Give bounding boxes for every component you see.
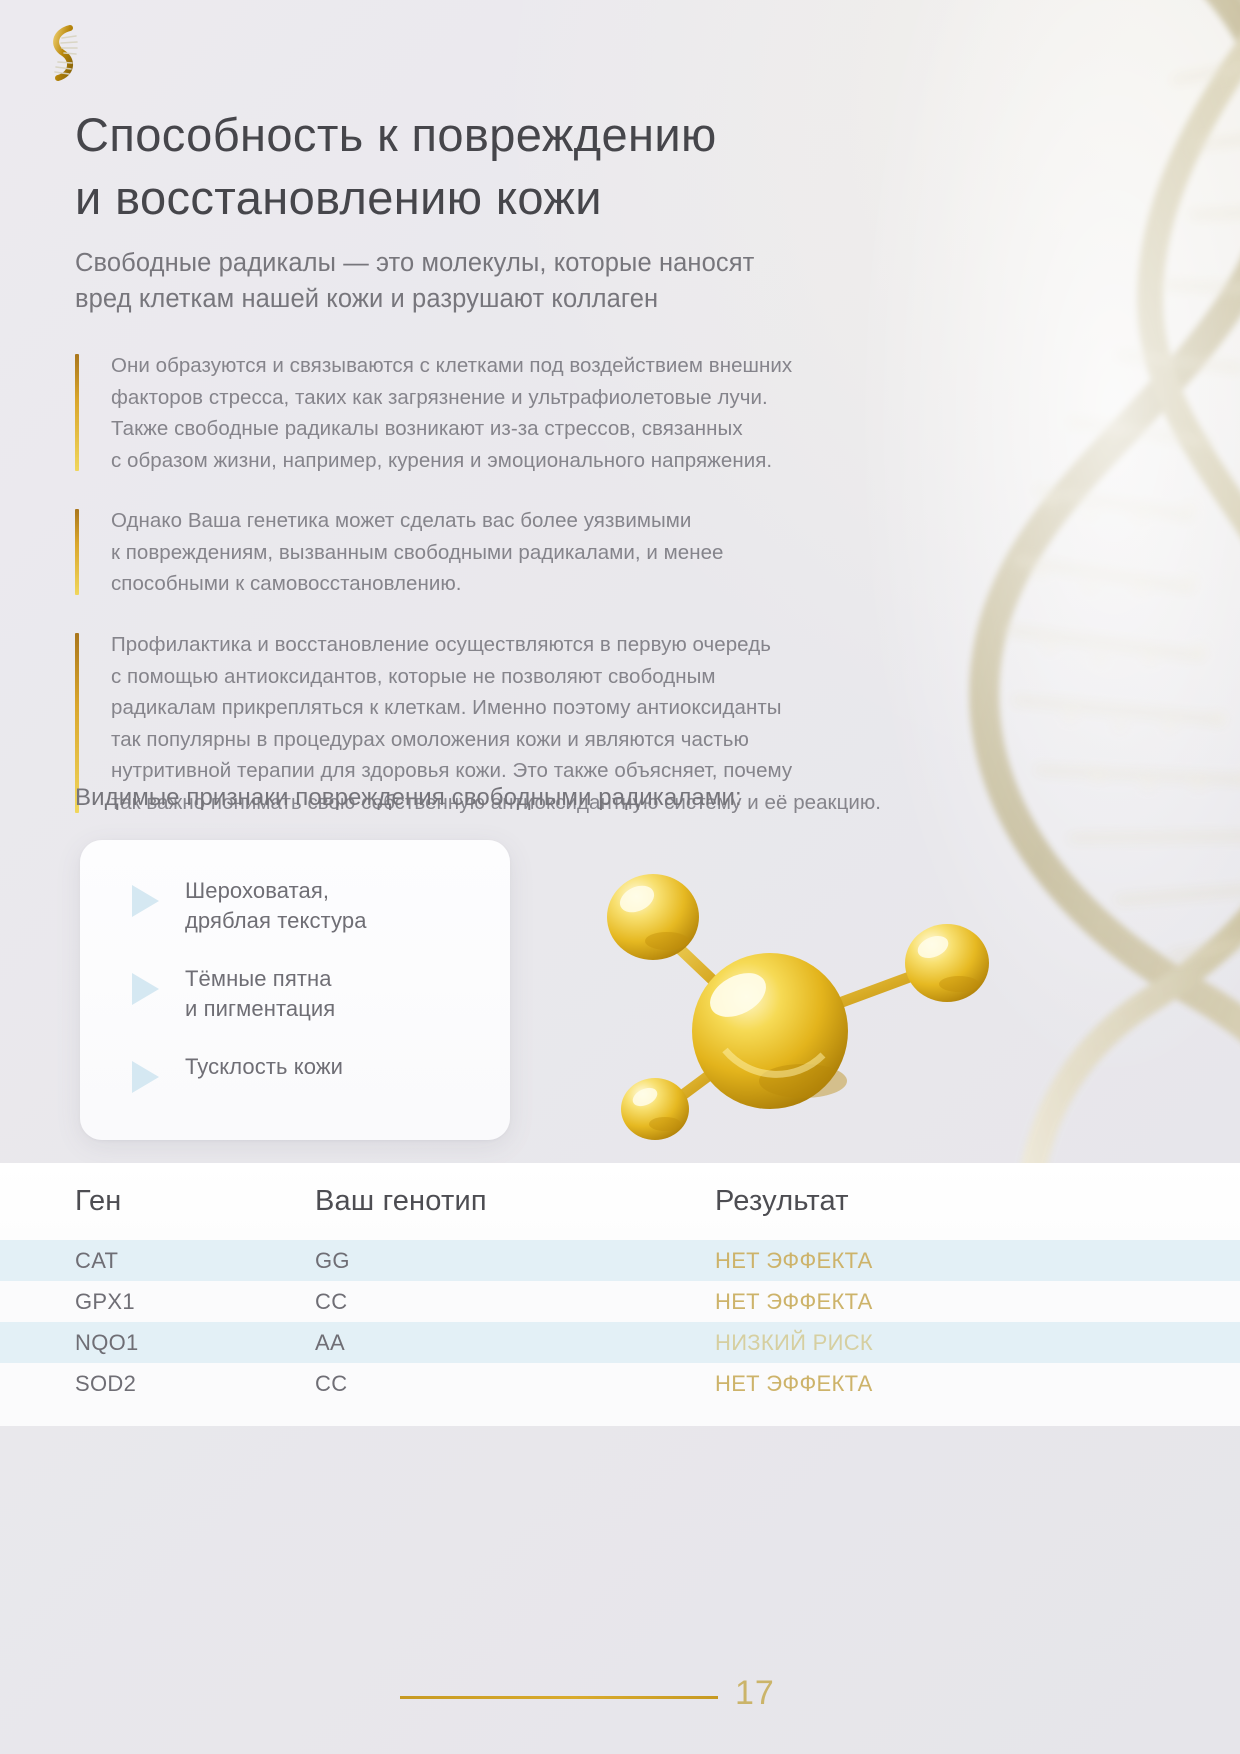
paragraph-blocks: Они образуются и связываются с клетками … [75,350,945,818]
list-item: Тёмные пятна и пигментация [110,964,488,1024]
paragraph-line: способными к самовосстановлению. [111,568,945,600]
report-page: Способность к повреждению и восстановлен… [0,0,1240,1754]
table-row: SOD2 CC НЕТ ЭФФЕКТА [0,1363,1240,1404]
molecule-illustration [575,835,1015,1145]
paragraph-block: Они образуются и связываются с клетками … [75,350,945,476]
list-item: Тусклость кожи [110,1052,488,1093]
genotype-table: Ген Ваш генотип Результат CAT GG НЕТ ЭФФ… [0,1163,1240,1426]
paragraph-line: радикалам прикрепляться к клеткам. Именн… [111,692,945,724]
molecule-atom [621,1078,689,1140]
dna-helix-icon [36,22,94,84]
cell-genotype: CC [315,1371,715,1397]
cell-genotype: GG [315,1248,715,1274]
paragraph-line: Они образуются и связываются с клетками … [111,350,945,382]
page-title-line-2: и восстановлению кожи [75,167,955,230]
page-title-line-1: Способность к повреждению [75,104,955,167]
table-header-row: Ген Ваш генотип Результат [0,1163,1240,1240]
molecule-atom [607,874,699,960]
cell-gene: CAT [0,1248,315,1274]
gold-accent-bar [75,509,79,595]
list-item-label: Шероховатая, дряблая текстура [185,876,367,936]
table-bottom-spacer [0,1404,1240,1426]
signs-heading: Видимые признаки повреждения свободными … [75,782,975,813]
page-subtitle-line-1: Свободные радикалы — это молекулы, котор… [75,245,945,281]
paragraph-text: Они образуются и связываются с клетками … [111,350,945,476]
column-header-result: Результат [715,1185,1240,1218]
cell-result: НЕТ ЭФФЕКТА [715,1371,1240,1397]
molecule-atom [905,924,989,1002]
paragraph-line: так популярны в процедурах омоложения ко… [111,724,945,756]
paragraph-line: с помощью антиоксидантов, которые не поз… [111,661,945,693]
list-item-line: Шероховатая, [185,876,367,906]
list-item: Шероховатая, дряблая текстура [110,876,488,936]
gold-accent-bar [75,354,79,471]
list-item-line: дряблая текстура [185,906,367,936]
cell-result: НИЗКИЙ РИСК [715,1330,1240,1356]
triangle-right-icon [132,973,159,1005]
footer-gold-rule [400,1696,718,1699]
page-subtitle: Свободные радикалы — это молекулы, котор… [75,245,945,317]
table-row: GPX1 CC НЕТ ЭФФЕКТА [0,1281,1240,1322]
molecule-atom-central [692,953,848,1109]
paragraph-line: Также свободные радикалы возникают из-за… [111,413,945,445]
paragraph-line: к повреждениям, вызванным свободными рад… [111,537,945,569]
table-row: CAT GG НЕТ ЭФФЕКТА [0,1240,1240,1281]
page-title: Способность к повреждению и восстановлен… [75,104,955,229]
paragraph-line: Однако Ваша генетика может сделать вас б… [111,505,945,537]
paragraph-text: Однако Ваша генетика может сделать вас б… [111,505,945,600]
list-item-line: Тёмные пятна [185,964,335,994]
cell-gene: GPX1 [0,1289,315,1315]
list-item-label: Тусклость кожи [185,1052,343,1082]
list-item-label: Тёмные пятна и пигментация [185,964,335,1024]
cell-gene: SOD2 [0,1371,315,1397]
page-number: 17 [735,1674,775,1713]
cell-genotype: AA [315,1330,715,1356]
page-subtitle-line-2: вред клеткам нашей кожи и разрушают колл… [75,281,945,317]
table-row: NQO1 AA НИЗКИЙ РИСК [0,1322,1240,1363]
paragraph-block: Однако Ваша генетика может сделать вас б… [75,505,945,600]
column-header-genotype: Ваш генотип [315,1185,715,1218]
paragraph-line: факторов стресса, таких как загрязнение … [111,382,945,414]
list-item-line: Тусклость кожи [185,1052,343,1082]
cell-result: НЕТ ЭФФЕКТА [715,1248,1240,1274]
cell-result: НЕТ ЭФФЕКТА [715,1289,1240,1315]
signs-card: Шероховатая, дряблая текстура Тёмные пят… [80,840,510,1140]
column-header-gene: Ген [0,1185,315,1218]
page-footer: 17 [0,1680,1240,1720]
paragraph-line: Профилактика и восстановление осуществля… [111,629,945,661]
triangle-right-icon [132,885,159,917]
paragraph-line: с образом жизни, например, курения и эмо… [111,445,945,477]
triangle-right-icon [132,1061,159,1093]
cell-gene: NQO1 [0,1330,315,1356]
cell-genotype: CC [315,1289,715,1315]
signs-list: Шероховатая, дряблая текстура Тёмные пят… [110,876,488,1093]
list-item-line: и пигментация [185,994,335,1024]
